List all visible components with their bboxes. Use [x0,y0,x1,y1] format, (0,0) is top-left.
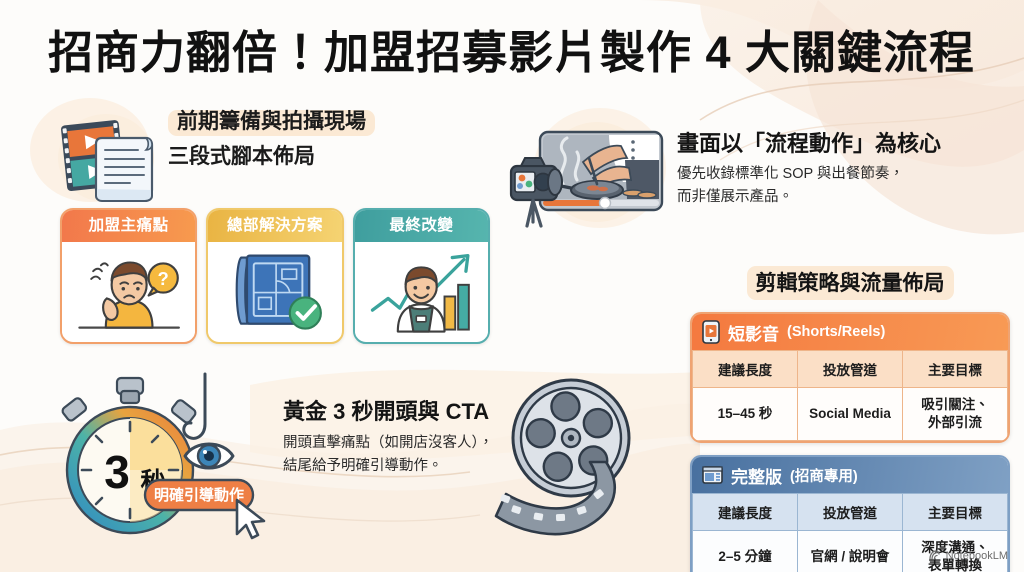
shorts-td-goal-line-2: 外部引流 [905,414,1005,432]
notebooklm-watermark: NotebookLM [928,549,1008,562]
svg-text:?: ? [158,268,169,289]
golden-seconds-text-block: 黃金 3 秒開頭與 CTA 開頭直擊痛點（如開店沒客人）， 結尾給予明確引導動作… [283,400,573,479]
notebooklm-watermark-label: NotebookLM [946,550,1008,562]
table-header-row: 建議長度 投放管道 主要目標 [693,351,1008,388]
camera-section: 畫面以「流程動作」為核心 優先收錄標準化 SOP 與出餐節奏， 而非僅展示產品。 [505,112,1015,232]
notebooklm-logo-icon [928,549,941,562]
shorts-td-goal-line-1: 吸引關注、 [905,396,1005,414]
full-td-channel: 官網 / 說明會 [798,531,903,572]
shorts-th-channel: 投放管道 [798,351,903,388]
script-line-2: 三段式腳本佈局 [168,146,375,168]
full-version-table-name: 完整版 [731,463,782,488]
golden-seconds-heading: 黃金 3 秒開頭與 CTA [283,400,573,424]
card-pain-point[interactable]: 加盟主痛點 [60,208,197,344]
shorts-table-name: 短影音 [728,320,779,345]
blueprint-check-icon [208,242,341,337]
card-outcome-label: 最終改變 [355,210,488,242]
tables-section: 剪輯策略與流量佈局 短影音 (Shorts/Reels) 建議長度 投放管道 [690,266,1010,572]
film-script-icon [50,110,162,205]
full-th-channel: 投放管道 [798,494,903,531]
full-version-table-header: 完整版 (招商專用) [692,457,1008,493]
table-header-row: 建議長度 投放管道 主要目標 [693,494,1008,531]
shorts-table-grid: 建議長度 投放管道 主要目標 15–45 秒 Social Media 吸引關注… [692,350,1008,441]
full-th-length: 建議長度 [693,494,798,531]
shorts-td-goal: 吸引關注、 外部引流 [903,388,1008,441]
stage-cards: 加盟主痛點 [60,208,490,343]
script-line-1-text: 前期籌備與拍攝現場 [168,110,375,136]
camera-body: 優先收錄標準化 SOP 與出餐節奏， 而非僅展示產品。 [677,163,1017,208]
table-row: 15–45 秒 Social Media 吸引關注、 外部引流 [693,388,1008,441]
infographic-canvas: 招商力翻倍！加盟招募影片製作 4 大關鍵流程 [0,0,1024,572]
tables-section-title: 剪輯策略與流量佈局 [690,266,1010,300]
stopwatch-eye-hook-icon: 3 秒 明確引導動作 [45,372,275,547]
shorts-th-goal: 主要目標 [903,351,1008,388]
happy-owner-growth-icon [355,242,488,337]
worried-person-icon: ? [62,242,195,337]
card-solution-label: 總部解決方案 [208,210,341,242]
full-version-table-name-sub: (招商專用) [790,465,858,486]
script-section: 前期籌備與拍攝現場 三段式腳本佈局 [50,108,480,208]
stopwatch-number: 3 [104,446,130,498]
camera-text-block: 畫面以「流程動作」為核心 優先收錄標準化 SOP 與出餐節奏， 而非僅展示產品。 [677,132,1017,208]
golden-seconds-body-line-1: 開頭直擊痛點（如開店沒客人）， [283,432,573,455]
full-th-goal: 主要目標 [903,494,1008,531]
browser-window-icon [702,466,723,484]
golden-seconds-section: 3 秒 明確引導動作 黃金 3 秒開頭與 CTA 開頭直擊痛點（如開店沒客人），… [45,372,565,547]
camera-heading: 畫面以「流程動作」為核心 [677,132,1017,156]
shorts-table-header: 短影音 (Shorts/Reels) [692,314,1008,350]
card-pain-point-label: 加盟主痛點 [62,210,195,242]
shorts-table: 短影音 (Shorts/Reels) 建議長度 投放管道 主要目標 15–45 … [690,312,1010,443]
golden-seconds-body: 開頭直擊痛點（如開店沒客人）， 結尾給予明確引導動作。 [283,432,573,478]
shorts-td-length: 15–45 秒 [693,388,798,441]
camera-tripod-chef-icon [505,114,670,229]
tables-section-title-text: 剪輯策略與流量佈局 [747,266,954,300]
camera-body-line-2: 而非僅展示產品。 [677,186,1017,208]
shorts-table-name-sub: (Shorts/Reels) [787,324,885,340]
script-text-block: 前期籌備與拍攝現場 三段式腳本佈局 [168,110,375,168]
shorts-td-channel: Social Media [798,388,903,441]
card-outcome[interactable]: 最終改變 [353,208,490,344]
camera-body-line-1: 優先收錄標準化 SOP 與出餐節奏， [677,163,1017,185]
phone-shorts-icon [702,320,720,344]
page-title: 招商力翻倍！加盟招募影片製作 4 大關鍵流程 [48,26,978,79]
golden-seconds-body-line-2: 結尾給予明確引導動作。 [283,455,573,478]
shorts-th-length: 建議長度 [693,351,798,388]
svg-text:明確引導動作: 明確引導動作 [154,486,244,504]
card-solution[interactable]: 總部解決方案 [206,208,343,344]
script-line-1: 前期籌備與拍攝現場 [168,110,375,136]
full-td-length: 2–5 分鐘 [693,531,798,572]
